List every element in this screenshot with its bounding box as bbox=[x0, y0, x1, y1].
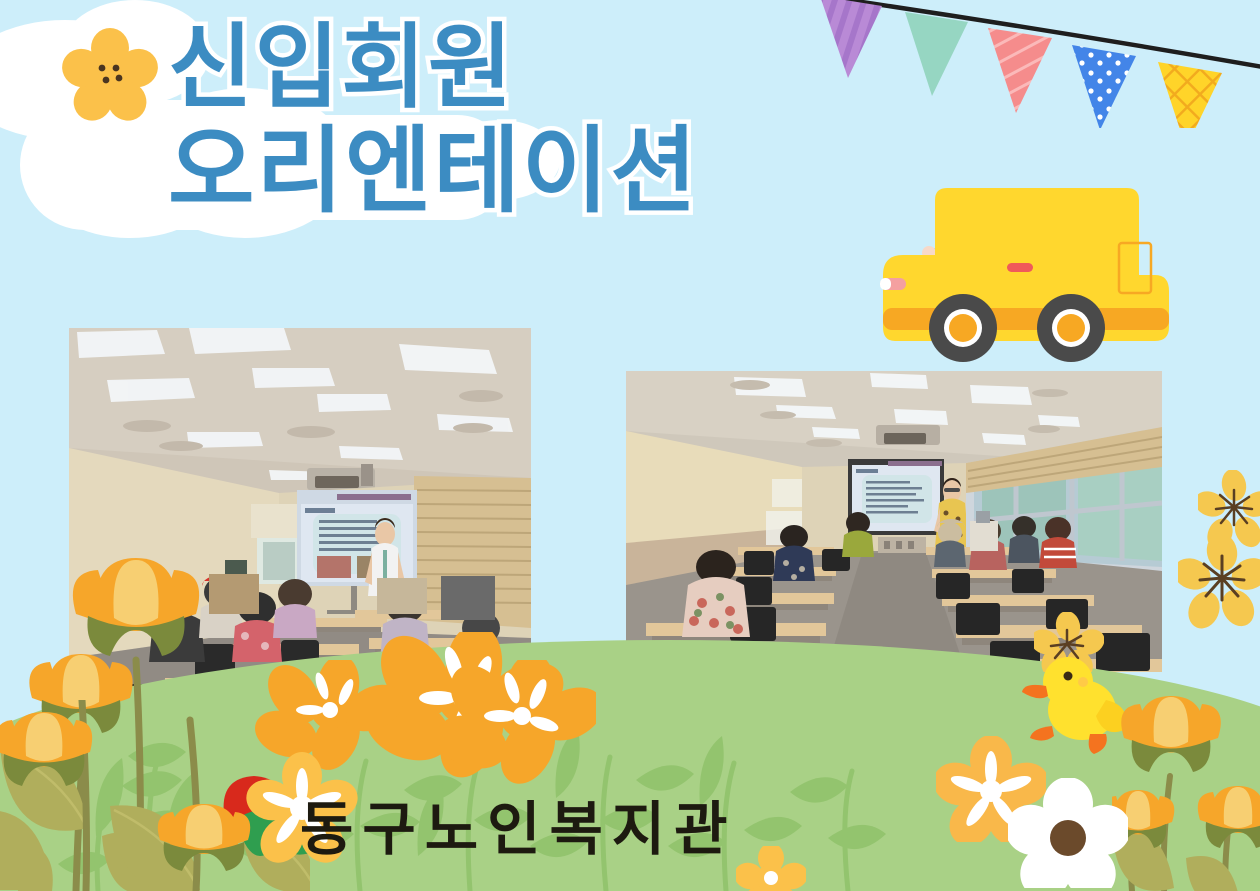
tulip-cluster-right bbox=[1112, 690, 1260, 891]
tulip-flower bbox=[1121, 696, 1221, 772]
duck-beak bbox=[1022, 685, 1048, 698]
duck-eye bbox=[1064, 672, 1073, 681]
flower-cluster-mid-right bbox=[436, 660, 596, 790]
tulip-flower bbox=[73, 558, 199, 656]
poster-title: 신입회원 오리엔테이션 bbox=[168, 18, 868, 223]
ceiling-projector bbox=[876, 425, 940, 445]
flag-pink-striped bbox=[988, 28, 1052, 113]
star-flower bbox=[1198, 470, 1260, 550]
dot-flower-icon bbox=[62, 26, 158, 122]
title-line-1: 신입회원 bbox=[168, 18, 868, 117]
flower-center bbox=[1050, 820, 1086, 856]
duck-cheek bbox=[1078, 677, 1088, 687]
duck-foot bbox=[1089, 734, 1107, 754]
white-flower bbox=[1008, 778, 1128, 888]
flag-mint-plain bbox=[905, 12, 968, 96]
title-line-2: 오리엔테이션 bbox=[168, 121, 868, 223]
tulip-flower-small bbox=[0, 706, 104, 826]
orange-flower bbox=[436, 660, 596, 790]
flag-blue-dotted bbox=[1072, 45, 1136, 128]
school-bus-illustration bbox=[865, 140, 1195, 375]
poster-canvas: 신입회원 오리엔테이션 bbox=[0, 0, 1260, 891]
bus-body bbox=[880, 188, 1169, 341]
organization-logo-text: 동구노인복지관 bbox=[300, 782, 737, 866]
flag-yellow-lattice bbox=[1158, 62, 1222, 128]
yellow-white-flower bbox=[736, 846, 806, 891]
